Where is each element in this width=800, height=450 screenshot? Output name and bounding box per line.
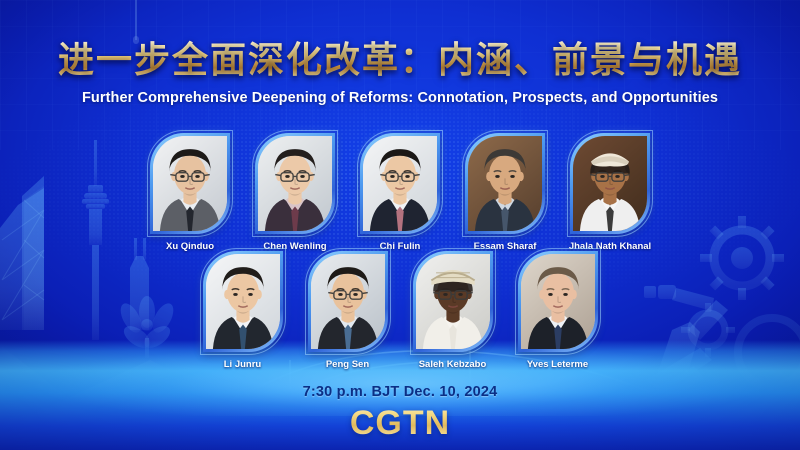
program-title-chinese: 进一步全面深化改革：内涵、前景与机遇 [0, 40, 800, 81]
guest-card: Li Junru [203, 251, 283, 370]
guest-card: Chi Fulin [360, 133, 440, 252]
guest-card: Xu Qinduo [150, 133, 230, 252]
guest-photo [258, 136, 332, 231]
guest-row-1: Xu Qinduo [0, 133, 800, 252]
guest-photo-frame [413, 251, 493, 352]
guest-row-2: Li Junru [0, 251, 800, 370]
guest-name: Saleh Kebzabo [419, 359, 487, 370]
guest-card: Chen Wenling [255, 133, 335, 252]
guest-photo-frame [518, 251, 598, 352]
guest-photo-frame [255, 133, 335, 234]
guest-photo [573, 136, 647, 231]
airtime-text: 7:30 p.m. BJT Dec. 10, 2024 [0, 384, 800, 400]
guest-photo [363, 136, 437, 231]
guest-name: Yves Leterme [527, 359, 588, 370]
guest-photo [521, 254, 595, 349]
cgtn-logo: CGTN [0, 404, 800, 443]
guest-photo-frame [203, 251, 283, 352]
guest-photo [311, 254, 385, 349]
guest-card: Peng Sen [308, 251, 388, 370]
guest-card: Jhala Nath Khanal [570, 133, 650, 252]
program-title-english: Further Comprehensive Deepening of Refor… [0, 90, 800, 106]
guest-photo [416, 254, 490, 349]
guest-photo-frame [570, 133, 650, 234]
guest-name: Li Junru [224, 359, 261, 370]
guest-photo [153, 136, 227, 231]
guest-photo [468, 136, 542, 231]
guest-card: Essam Sharaf [465, 133, 545, 252]
broadcast-promo-graphic: 进一步全面深化改革：内涵、前景与机遇 Further Comprehensive… [0, 0, 800, 450]
guest-photo-frame [360, 133, 440, 234]
guest-photo-frame [465, 133, 545, 234]
guest-photo [206, 254, 280, 349]
title-block: 进一步全面深化改革：内涵、前景与机遇 Further Comprehensive… [0, 40, 800, 106]
guest-card: Saleh Kebzabo [413, 251, 493, 370]
guest-photo-frame [308, 251, 388, 352]
guest-name: Peng Sen [326, 359, 369, 370]
guest-card: Yves Leterme [518, 251, 598, 370]
guest-photo-frame [150, 133, 230, 234]
